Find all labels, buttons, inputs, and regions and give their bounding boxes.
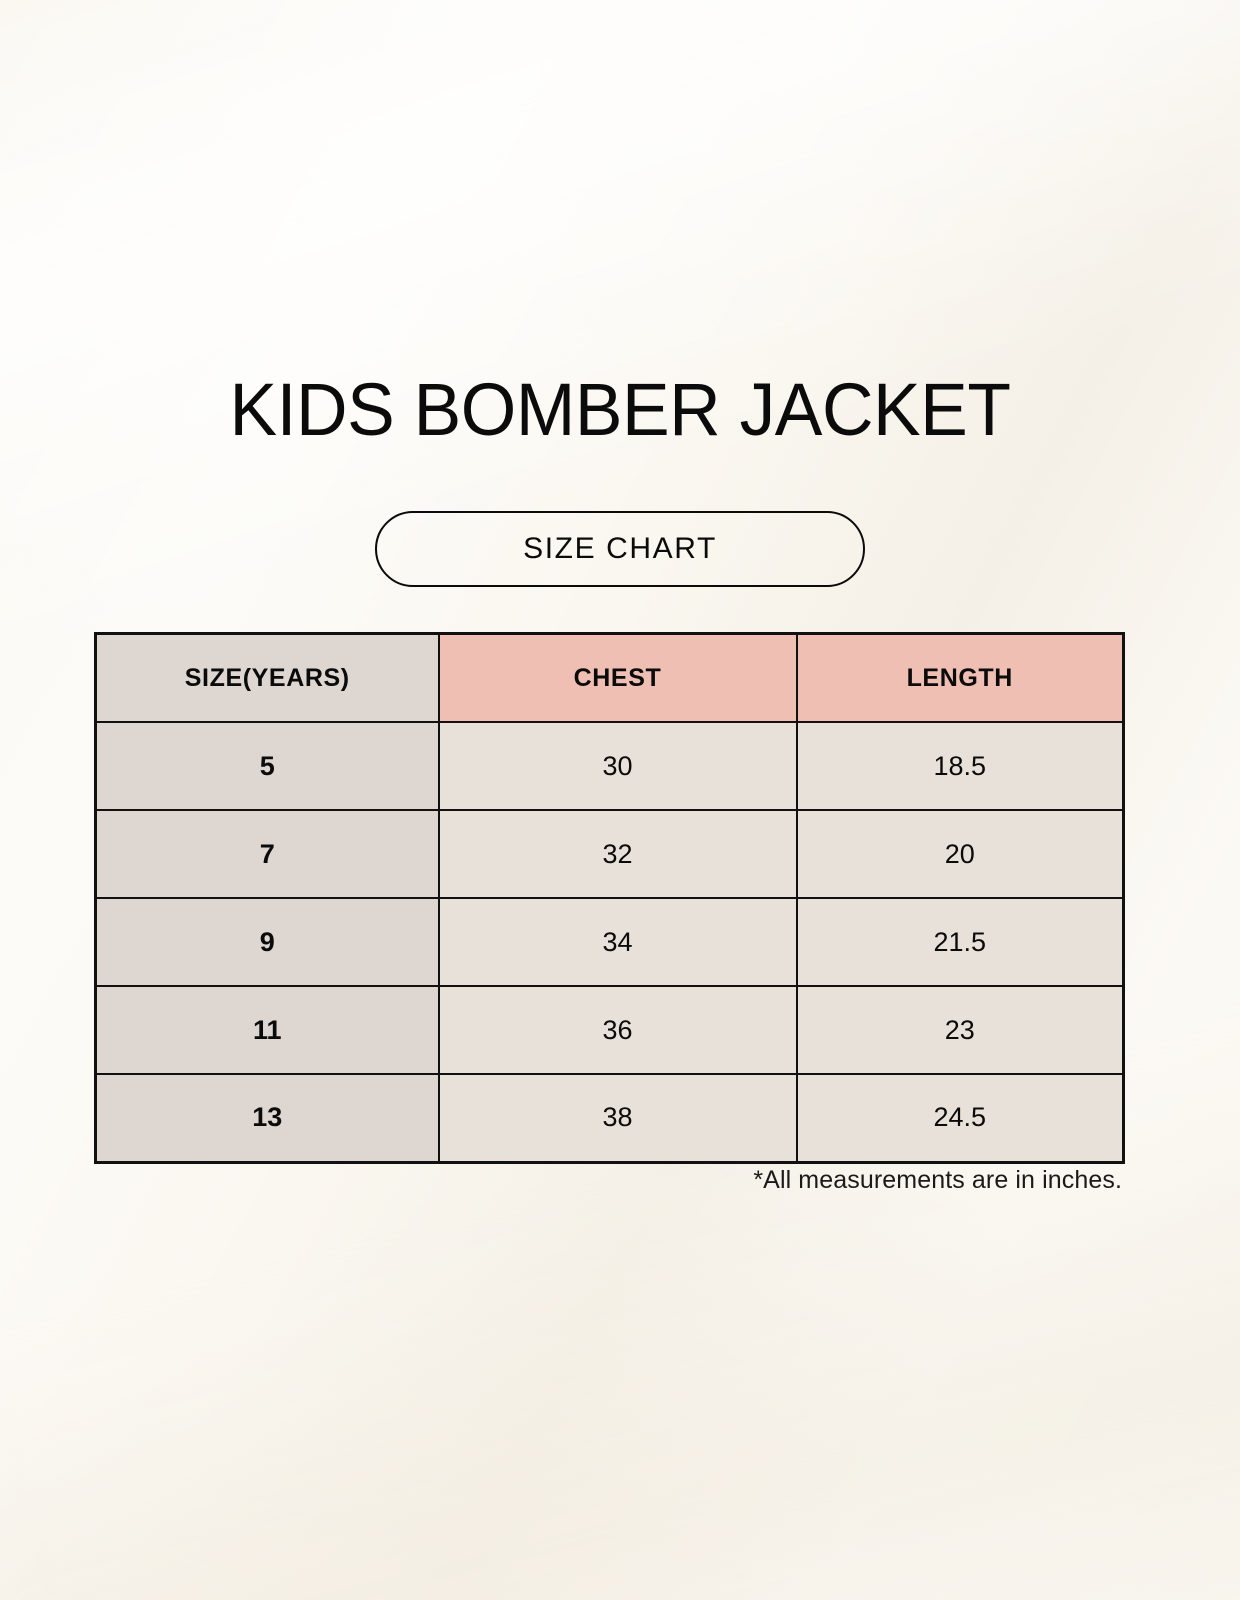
size-table-container: SIZE(YEARS) CHEST LENGTH 5 30 18.5 7 32 … bbox=[94, 632, 1122, 1164]
column-header-length: LENGTH bbox=[797, 634, 1124, 723]
cell-chest: 36 bbox=[439, 986, 797, 1074]
table-header: SIZE(YEARS) CHEST LENGTH bbox=[96, 634, 1124, 723]
badge-container: SIZE CHART bbox=[0, 511, 1240, 587]
table-body: 5 30 18.5 7 32 20 9 34 21.5 bbox=[96, 722, 1124, 1162]
cell-size: 11 bbox=[96, 986, 439, 1074]
cell-length: 21.5 bbox=[797, 898, 1124, 986]
cell-length: 18.5 bbox=[797, 722, 1124, 810]
cell-chest: 32 bbox=[439, 810, 797, 898]
cell-size: 13 bbox=[96, 1074, 439, 1162]
measurement-units-note: *All measurements are in inches. bbox=[94, 1166, 1122, 1195]
cell-chest: 34 bbox=[439, 898, 797, 986]
cell-length: 20 bbox=[797, 810, 1124, 898]
cell-chest: 30 bbox=[439, 722, 797, 810]
cell-size: 9 bbox=[96, 898, 439, 986]
size-chart-badge: SIZE CHART bbox=[375, 511, 865, 587]
cell-length: 23 bbox=[797, 986, 1124, 1074]
cell-size: 7 bbox=[96, 810, 439, 898]
size-table: SIZE(YEARS) CHEST LENGTH 5 30 18.5 7 32 … bbox=[94, 632, 1125, 1164]
cell-chest: 38 bbox=[439, 1074, 797, 1162]
page-title: KIDS BOMBER JACKET bbox=[22, 371, 1219, 449]
column-header-size: SIZE(YEARS) bbox=[96, 634, 439, 723]
table-row: 13 38 24.5 bbox=[96, 1074, 1124, 1162]
table-row: 11 36 23 bbox=[96, 986, 1124, 1074]
column-header-chest: CHEST bbox=[439, 634, 797, 723]
table-row: 7 32 20 bbox=[96, 810, 1124, 898]
cell-length: 24.5 bbox=[797, 1074, 1124, 1162]
table-header-row: SIZE(YEARS) CHEST LENGTH bbox=[96, 634, 1124, 723]
table-row: 5 30 18.5 bbox=[96, 722, 1124, 810]
cell-size: 5 bbox=[96, 722, 439, 810]
table-row: 9 34 21.5 bbox=[96, 898, 1124, 986]
size-chart-page: KIDS BOMBER JACKET SIZE CHART SIZE(YEARS… bbox=[0, 0, 1240, 1600]
